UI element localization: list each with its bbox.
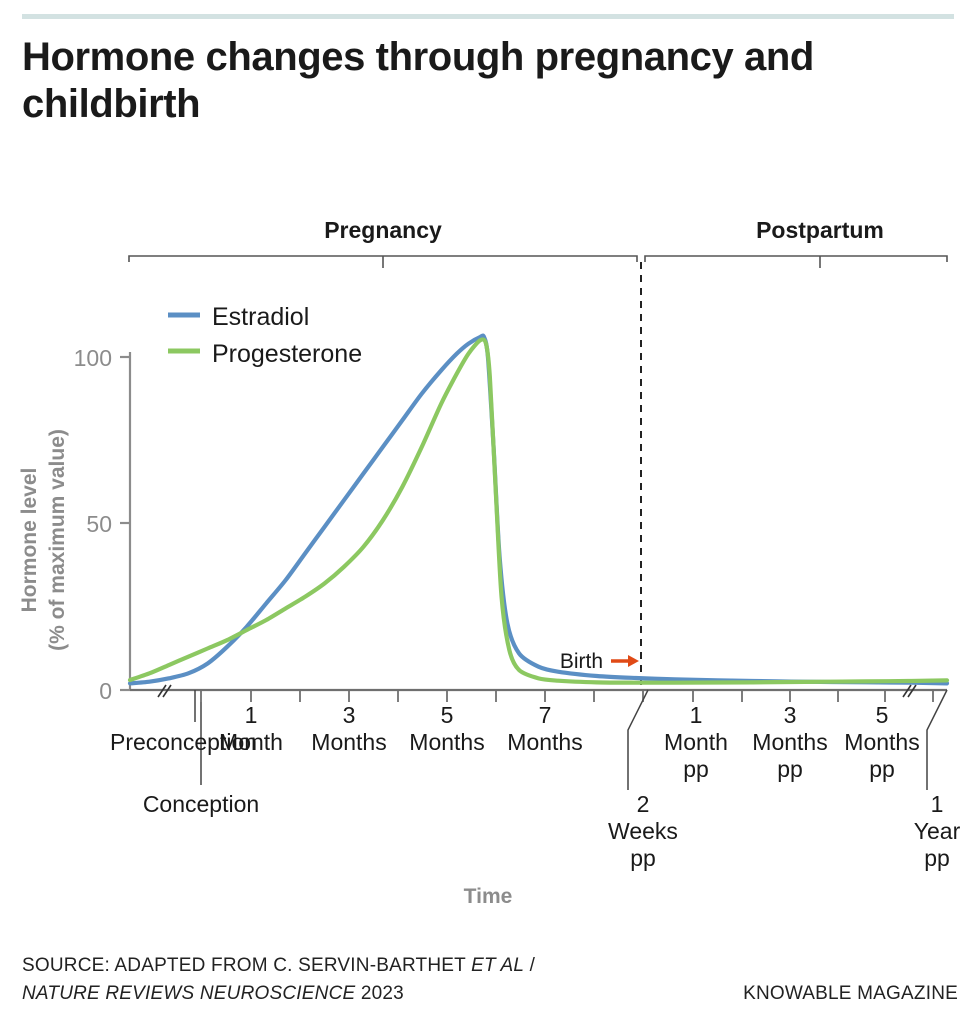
x-tick-1month-pp-suffix: pp (683, 756, 709, 782)
y-axis-title: Hormone level (% of maximum value) (18, 429, 69, 651)
birth-label: Birth (560, 650, 603, 673)
series-line-estradiol (130, 336, 947, 684)
source-note: SOURCE: ADAPTED FROM C. SERVIN-BARTHET E… (22, 952, 742, 1007)
pregnancy-label: Pregnancy (324, 217, 442, 243)
pregnancy-bracket (129, 256, 637, 268)
source-journal: NATURE REVIEWS NEUROSCIENCE (22, 983, 355, 1004)
series-lines (130, 336, 947, 684)
x-tick-5months-pp-suffix: pp (869, 756, 895, 782)
birth-arrow-icon (611, 655, 639, 667)
x-tick-2weeks-pp-unit: Weeks (608, 818, 678, 844)
y-tick-0: 0 (99, 678, 112, 704)
chart-legend: Estradiol Progesterone (168, 303, 362, 368)
y-tick-100: 100 (74, 345, 112, 371)
x-tick-3months-pp-unit: Months (752, 729, 827, 755)
y-axis-title-line1: Hormone level (18, 468, 41, 613)
source-etal: ET AL (471, 955, 524, 976)
x-tick-2weeks-pp-suffix: pp (630, 845, 656, 871)
x-tick-2weeks-pp-num: 2 (637, 791, 650, 817)
x-tick-1month-unit: Month (219, 729, 283, 755)
y-tick-50: 50 (86, 511, 112, 537)
two-weeks-pp-leader (628, 690, 648, 790)
one-year-pp-leader (927, 690, 947, 790)
x-tick-3months-pp-suffix: pp (777, 756, 803, 782)
x-tick-7months-unit: Months (507, 729, 582, 755)
x-tick-5months-unit: Months (409, 729, 484, 755)
postpartum-label: Postpartum (756, 217, 884, 243)
x-tick-3months-pp-num: 3 (784, 702, 797, 728)
x-tick-5months-num: 5 (441, 702, 454, 728)
x-tick-5months-pp-unit: Months (844, 729, 919, 755)
series-line-progesterone (130, 339, 947, 682)
x-tick-1year-pp-unit: Year (914, 818, 961, 844)
x-tick-1month-pp-unit: Month (664, 729, 728, 755)
source-slash: / (524, 955, 535, 976)
source-year: 2023 (355, 983, 404, 1004)
x-tick-1month-num: 1 (245, 702, 258, 728)
source-prefix: SOURCE: ADAPTED FROM C. SERVIN-BARTHET (22, 955, 471, 976)
x-tick-3months-unit: Months (311, 729, 386, 755)
x-axis-title: Time (464, 885, 513, 908)
chart-container: Pregnancy Postpartum 100 50 0 Hormone le… (0, 0, 976, 1024)
legend-label-estradiol: Estradiol (212, 303, 309, 331)
legend-label-progesterone: Progesterone (212, 340, 362, 368)
x-tick-1month-pp-num: 1 (690, 702, 703, 728)
x-tick-3months-num: 3 (343, 702, 356, 728)
x-axis (130, 690, 947, 702)
brand-credit: KNOWABLE MAGAZINE (743, 983, 958, 1005)
x-tick-conception: Conception (143, 791, 259, 817)
x-tick-7months-num: 7 (539, 702, 552, 728)
y-axis-title-line2: (% of maximum value) (46, 429, 69, 651)
y-axis (120, 352, 130, 690)
hormone-chart-svg: Pregnancy Postpartum 100 50 0 Hormone le… (0, 0, 976, 940)
x-tick-1year-pp-suffix: pp (924, 845, 950, 871)
postpartum-bracket (645, 256, 947, 268)
x-tick-5months-pp-num: 5 (876, 702, 889, 728)
x-tick-1year-pp-num: 1 (931, 791, 944, 817)
